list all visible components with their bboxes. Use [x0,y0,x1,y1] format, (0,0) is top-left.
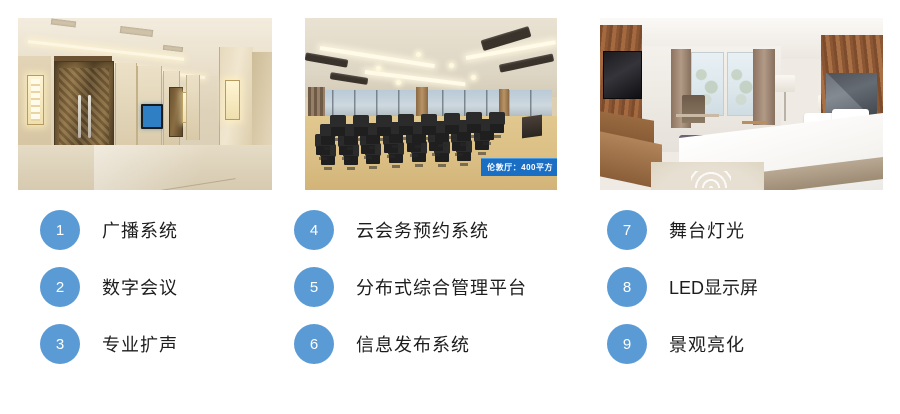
conference-hall-scene: 伦敦厅：400平方 [305,18,557,190]
feature-item-label: 专业扩声 [102,331,178,357]
feature-item-2[interactable]: 2 数字会议 [40,267,178,307]
downlight-icon [376,66,381,71]
feature-number-badge: 8 [607,267,647,307]
window-curtain [753,49,776,125]
stage-speaker [522,115,542,138]
feature-number-badge: 6 [294,324,334,364]
information-display-screen [141,104,163,129]
downlight-icon [396,80,401,85]
gallery-image-conference-hall[interactable]: 伦敦厅：400平方 [305,18,557,190]
marble-panel [186,75,201,140]
feature-number-badge: 1 [40,210,80,250]
elevator-lobby-scene [18,18,272,190]
floor-rug [651,162,764,190]
far-elevator-door [169,87,182,137]
marble-panel [115,63,137,156]
feature-item-label: LED显示屏 [669,274,758,300]
feature-item-label: 广播系统 [102,217,178,243]
feature-item-3[interactable]: 3 专业扩声 [40,324,178,364]
feature-list: 1 广播系统 2 数字会议 3 专业扩声 4 云会务预约系统 5 分布式综合管理… [0,200,900,414]
image-gallery: 伦敦厅：400平方 [0,0,900,200]
feature-item-4[interactable]: 4 云会务预约系统 [294,210,489,250]
gallery-image-guest-room[interactable] [600,18,883,190]
feature-item-label: 数字会议 [102,274,178,300]
feature-item-label: 云会务预约系统 [356,217,489,243]
wall-sconce-icon [225,80,240,120]
floor-lamp-icon [775,75,795,92]
feature-item-label: 信息发布系统 [356,331,470,357]
feature-item-label: 分布式综合管理平台 [356,274,527,300]
feature-number-badge: 4 [294,210,334,250]
feature-column-3: 7 舞台灯光 8 LED显示屏 9 景观亮化 [607,200,897,414]
feature-item-5[interactable]: 5 分布式综合管理平台 [294,267,527,307]
side-table [742,121,767,124]
lobby-floor [18,145,272,190]
feature-number-badge: 2 [40,267,80,307]
wall-sconce-icon [27,75,44,125]
feature-item-label: 景观亮化 [669,331,745,357]
feature-number-badge: 3 [40,324,80,364]
feature-item-7[interactable]: 7 舞台灯光 [607,210,745,250]
feature-item-8[interactable]: 8 LED显示屏 [607,267,758,307]
door-handle [88,95,91,138]
desk-chair [682,95,705,123]
downlight-icon [449,63,454,68]
guest-room-scene [600,18,883,190]
feature-item-9[interactable]: 9 景观亮化 [607,324,745,364]
writing-desk [676,114,718,117]
feature-number-badge: 5 [294,267,334,307]
door-handle [78,95,81,138]
feature-column-1: 1 广播系统 2 数字会议 3 专业扩声 [40,200,330,414]
feature-item-label: 舞台灯光 [669,217,745,243]
feature-item-1[interactable]: 1 广播系统 [40,210,178,250]
television-screen [603,51,642,99]
feature-column-2: 4 云会务预约系统 5 分布式综合管理平台 6 信息发布系统 [294,200,584,414]
feature-item-6[interactable]: 6 信息发布系统 [294,324,470,364]
hall-caption-badge: 伦敦厅：400平方 [481,158,557,176]
feature-number-badge: 7 [607,210,647,250]
feature-number-badge: 9 [607,324,647,364]
gallery-image-elevator-lobby[interactable] [18,18,272,190]
